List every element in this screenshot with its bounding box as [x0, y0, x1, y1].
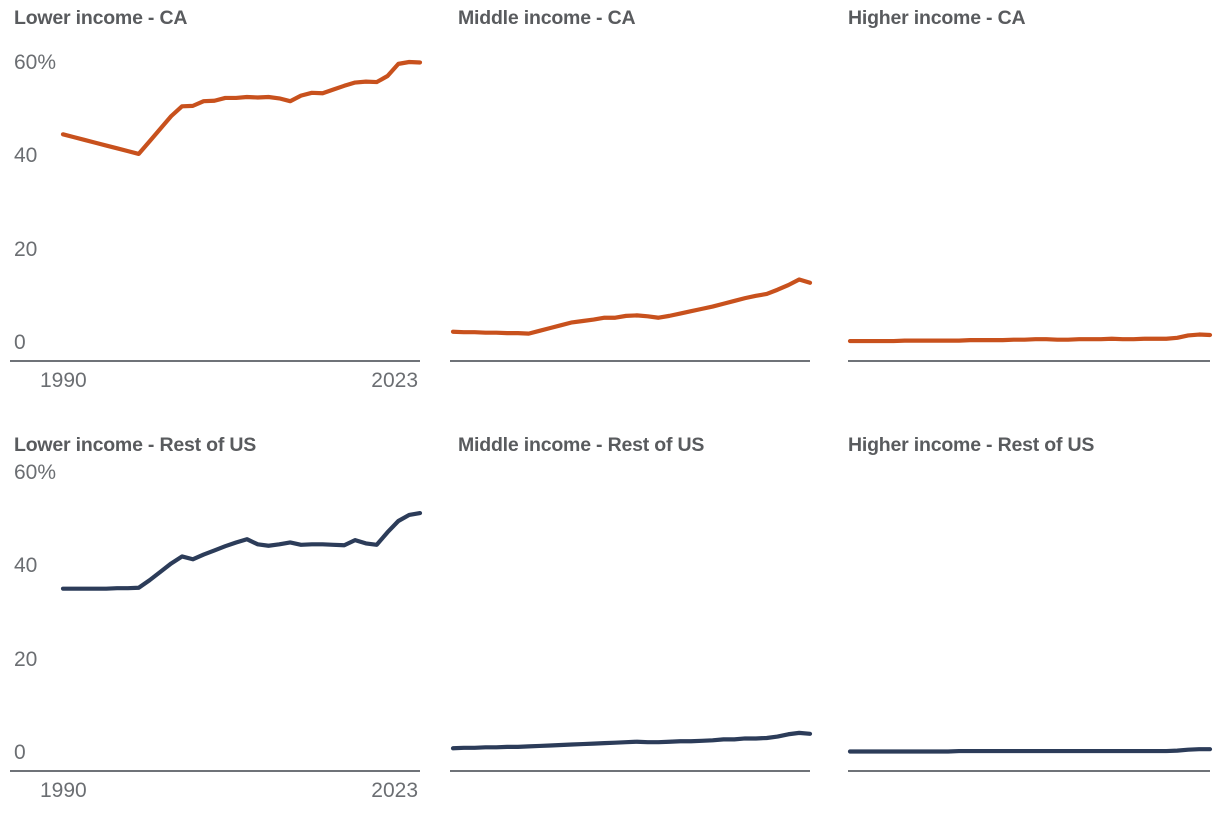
small-multiples-grid: Lower income - CA60%4020019902023Middle …: [0, 0, 1220, 838]
panel-title: Higher income - Rest of US: [848, 433, 1094, 457]
series-line: [850, 749, 1210, 751]
plot-area: [0, 0, 1220, 838]
panel-higher-income-rest-of-us: Higher income - Rest of US: [0, 0, 1220, 838]
